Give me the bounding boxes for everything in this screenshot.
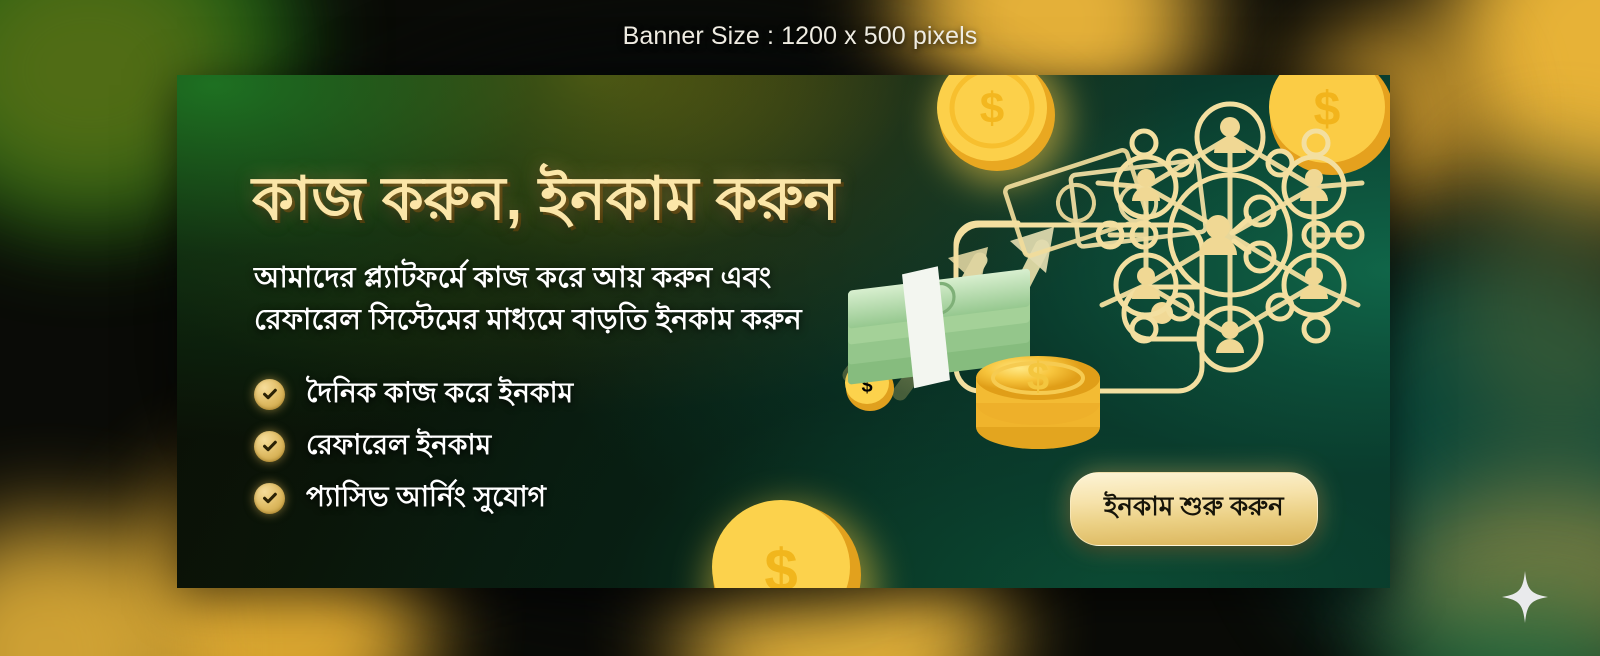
coin-bottom-center: $ [712, 500, 861, 588]
coin-top-center: $ [937, 75, 1055, 171]
sparkle-icon [1502, 571, 1548, 628]
list-item: প্যাসিভ আর্নিং সুযোগ [254, 472, 573, 524]
promo-banner: $ $ $ $ কাজ করুন, ইনকাম করুন আমাদের প্ল্… [177, 75, 1390, 588]
svg-text:$: $ [861, 375, 872, 397]
banner-size-caption: Banner Size : 1200 x 500 pixels [0, 22, 1600, 51]
check-circle-icon [254, 483, 285, 514]
coin-top-right: $ [1269, 75, 1390, 175]
start-earning-cta-button[interactable]: ইনকাম শুরু করুন [1070, 472, 1318, 546]
banner-headline: কাজ করুন, ইনকাম করুন [252, 165, 1052, 232]
check-circle-icon [254, 379, 285, 410]
svg-text:$: $ [1314, 83, 1341, 136]
feature-list: দৈনিক কাজ করে ইনকাম রেফারেল ইনকাম প্যাসি… [254, 368, 573, 524]
list-item: রেফারেল ইনকাম [254, 420, 573, 472]
list-item-label: রেফারেল ইনকাম [306, 423, 491, 470]
check-circle-icon [254, 431, 285, 462]
svg-text:$: $ [980, 84, 1004, 133]
svg-text:$: $ [764, 537, 797, 588]
list-item-label: প্যাসিভ আর্নিং সুযোগ [306, 475, 546, 522]
coin-small-left: $ [845, 362, 894, 411]
banner-subtitle-line-2: রেফারেল সিস্টেমের মাধ্যমে বাড়তি ইনকাম ক… [254, 297, 1014, 346]
list-item: দৈনিক কাজ করে ইনকাম [254, 368, 573, 420]
list-item-label: দৈনিক কাজ করে ইনকাম [306, 371, 573, 418]
